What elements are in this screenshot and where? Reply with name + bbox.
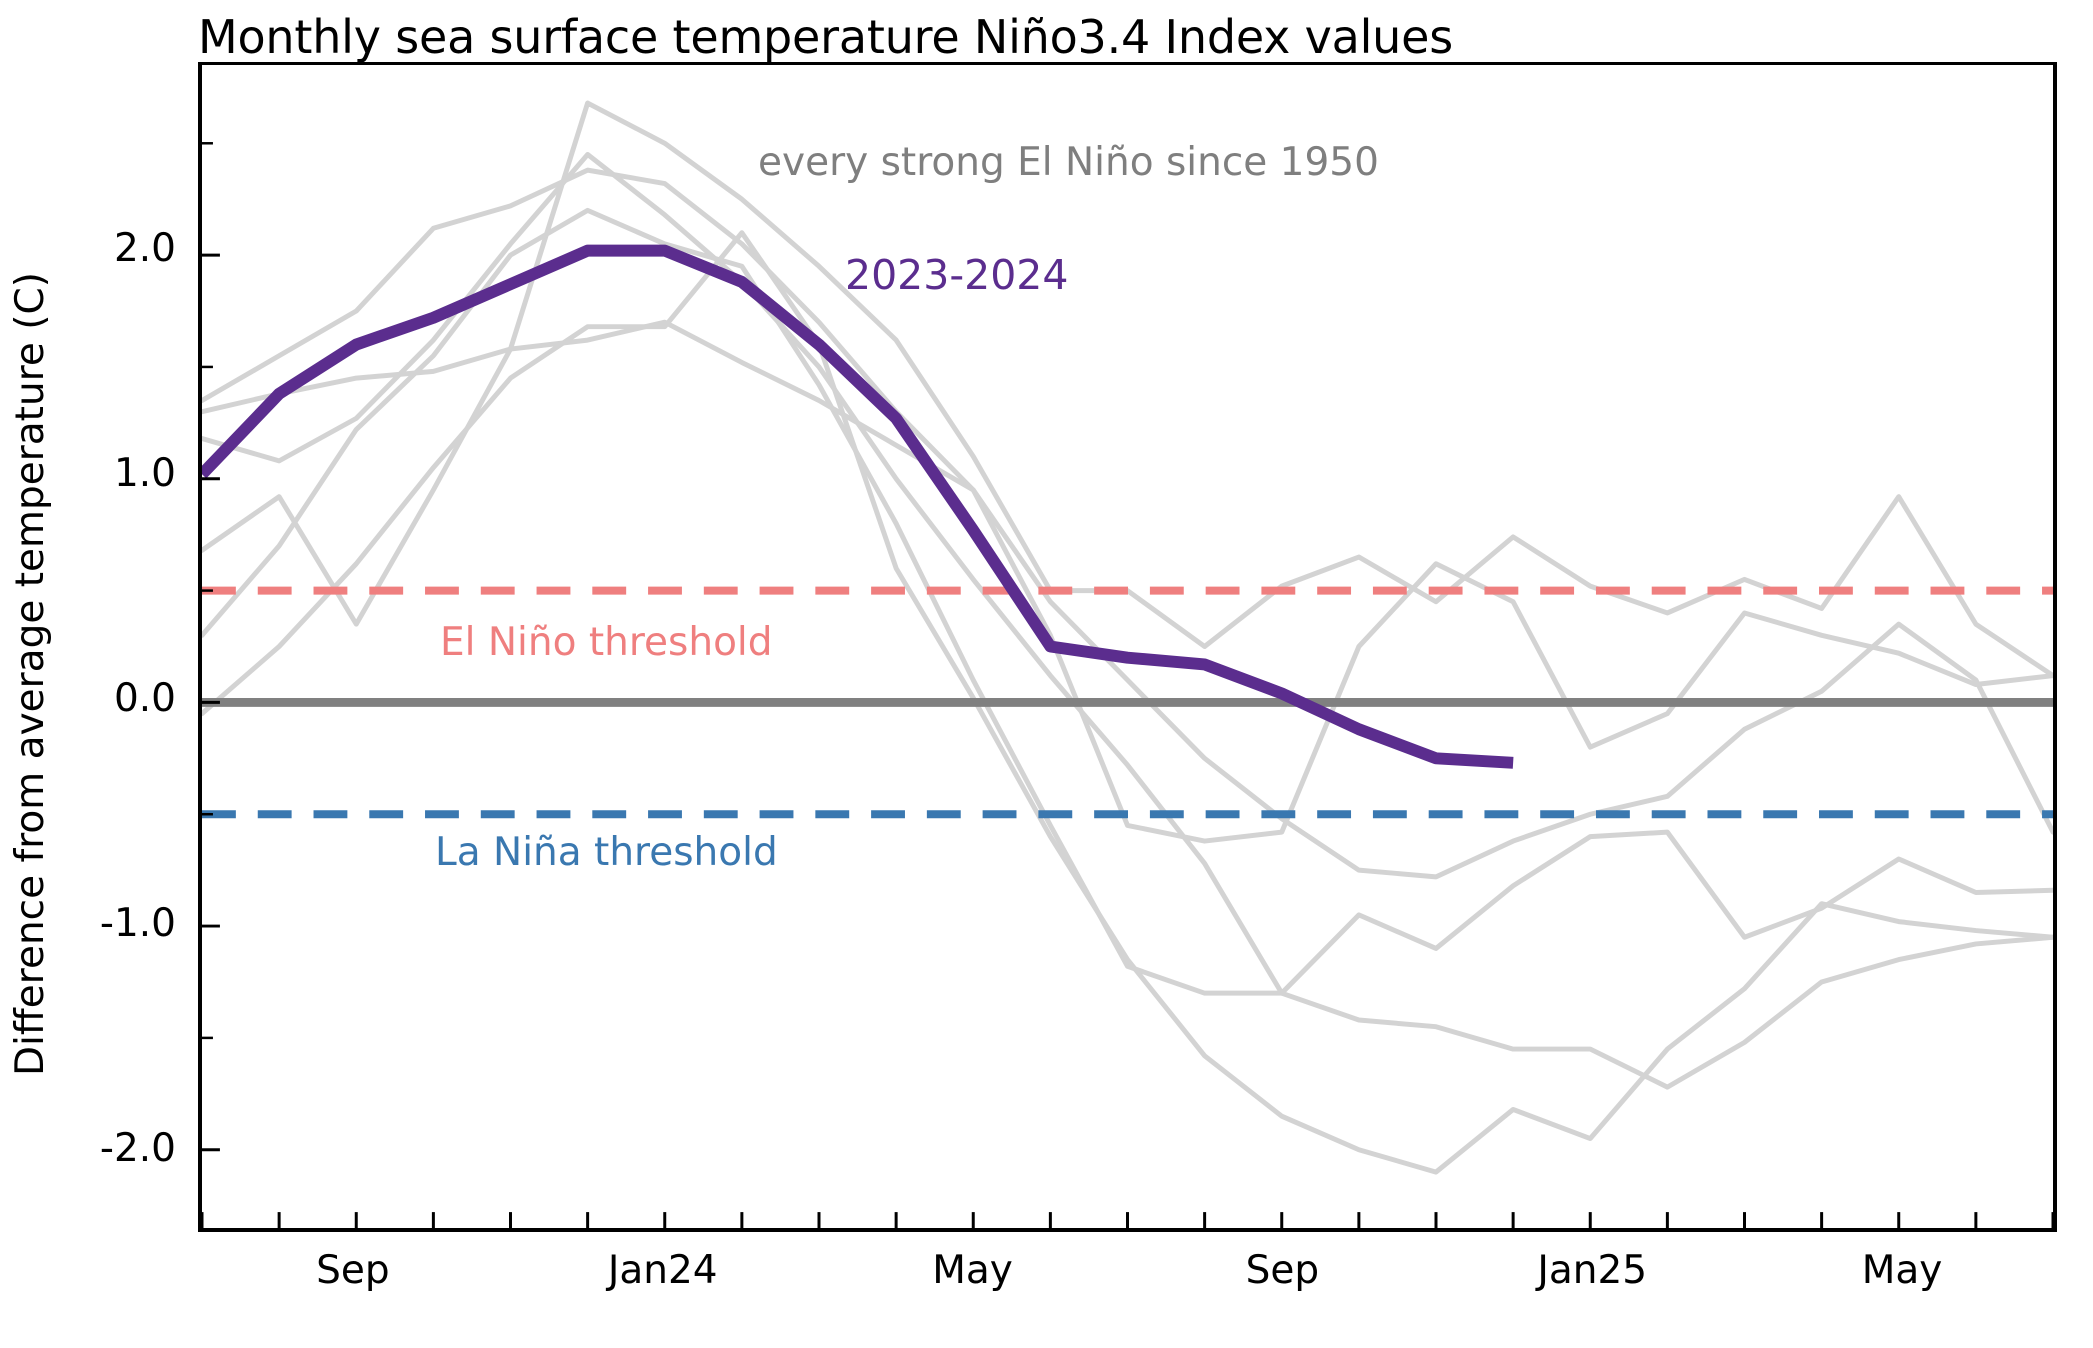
y-axis-tick-label: -2.0 <box>0 1126 176 1171</box>
x-axis-tick-label: Jan24 <box>608 1248 718 1293</box>
y-axis-tick-label: 1.0 <box>0 451 176 496</box>
x-axis-tick-label: Jan25 <box>1537 1248 1647 1293</box>
highlight-line-2023-2024 <box>202 251 1513 763</box>
highlight-series-group <box>202 251 1513 763</box>
y-axis-tick-label: 0.0 <box>0 676 176 721</box>
x-axis-tick-label: May <box>932 1248 1013 1293</box>
x-axis-tick-label: Sep <box>316 1248 390 1293</box>
la-nina-threshold-label: La Niña threshold <box>435 830 778 875</box>
current-event-label: 2023-2024 <box>845 251 1068 299</box>
axis-ticks-group <box>202 143 2053 1228</box>
x-axis-tick-label: May <box>1862 1248 1943 1293</box>
chart-figure: Monthly sea surface temperature Niño3.4 … <box>0 0 2093 1348</box>
analog-lines-label: every strong El Niño since 1950 <box>758 140 1379 185</box>
el-nino-threshold-label: El Niño threshold <box>440 620 773 665</box>
analog-line <box>202 170 2053 877</box>
y-axis-tick-label: -1.0 <box>0 901 176 946</box>
x-axis-tick-label: Sep <box>1246 1248 1320 1293</box>
page-title: Monthly sea surface temperature Niño3.4 … <box>198 10 2058 64</box>
y-axis-tick-label: 2.0 <box>0 226 176 271</box>
